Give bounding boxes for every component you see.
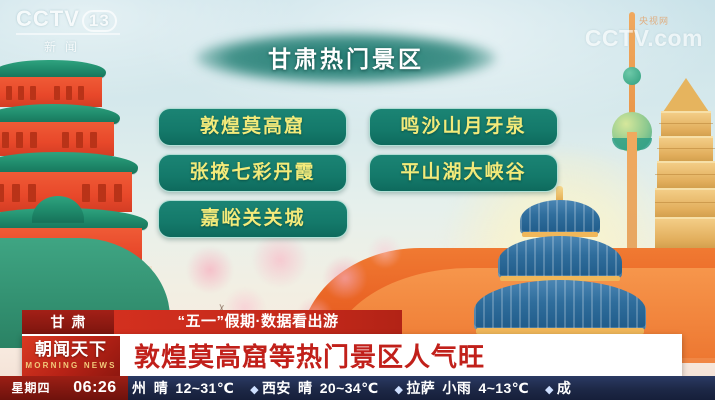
cctv-logo-subtitle: 新闻 bbox=[44, 38, 148, 55]
page-title: 甘肃热门景区 bbox=[196, 42, 496, 76]
province-label: 甘肃 bbox=[22, 310, 114, 334]
ticker-weekday: 星期四 bbox=[0, 376, 62, 400]
cctv-logo-underline bbox=[16, 33, 120, 35]
ticker-clock: 06:26 bbox=[62, 376, 128, 400]
scenic-spot-tag[interactable]: 平山湖大峡谷 bbox=[369, 154, 558, 192]
ticker-weather-item: ◆成 bbox=[545, 380, 571, 396]
program-name-english: MORNING NEWS bbox=[22, 361, 120, 370]
ticker-condition: 晴 bbox=[149, 380, 172, 396]
scenic-spot-tag[interactable]: 敦煌莫高窟 bbox=[158, 108, 347, 146]
lower-third-main-row: 朝闻天下 MORNING NEWS 敦煌莫高窟等热门景区人气旺 bbox=[22, 334, 682, 376]
lower-third-subtitle: “五一”假期·数据看出游 bbox=[114, 310, 402, 334]
cctv-wordmark: CCTV bbox=[16, 6, 80, 31]
ticker-city: 拉萨 bbox=[406, 380, 435, 396]
scenic-spot-row: 张掖七彩丹霞 平山湖大峡谷 bbox=[158, 154, 558, 192]
ticker-temperature: 4~13℃ bbox=[479, 380, 530, 396]
scenic-spot-tag[interactable]: 张掖七彩丹霞 bbox=[158, 154, 347, 192]
ticker-city: 州 bbox=[132, 380, 146, 396]
cctv-channel-number: 13 bbox=[82, 10, 117, 32]
bottom-ticker: 星期四 06:26 州 晴 12~31℃◆西安 晴 20~34℃◆拉萨 小雨 4… bbox=[0, 376, 715, 400]
scenic-spot-grid: 敦煌莫高窟 鸣沙山月牙泉 张掖七彩丹霞 平山湖大峡谷 嘉峪关关城 bbox=[158, 108, 558, 246]
scenic-spot-row: 敦煌莫高窟 鸣沙山月牙泉 bbox=[158, 108, 558, 146]
ticker-weather-list: 州 晴 12~31℃◆西安 晴 20~34℃◆拉萨 小雨 4~13℃◆成 bbox=[128, 376, 715, 400]
bullet-icon: ◆ bbox=[250, 384, 259, 396]
cctv-logo-text: CCTV13 bbox=[16, 8, 148, 32]
cctv-com-watermark: 央视网 CCTV.com bbox=[585, 14, 703, 49]
headline-text: 敦煌莫高窟等热门景区人气旺 bbox=[120, 336, 682, 378]
lower-third-top-row: 甘肃 “五一”假期·数据看出游 bbox=[22, 310, 402, 334]
scenic-spot-row: 嘉峪关关城 bbox=[158, 200, 558, 238]
ticker-city: 西安 bbox=[262, 380, 291, 396]
scenic-spot-tag[interactable]: 鸣沙山月牙泉 bbox=[369, 108, 558, 146]
ticker-city: 成 bbox=[557, 380, 571, 396]
scenic-spot-tag[interactable]: 嘉峪关关城 bbox=[158, 200, 348, 238]
ticker-temperature: 12~31℃ bbox=[175, 380, 234, 396]
bullet-icon: ◆ bbox=[545, 384, 554, 396]
broadcast-screenshot: CCTV13 新闻 央视网 CCTV.com 甘肃热门景区 敦煌莫高窟 鸣沙山月… bbox=[0, 0, 715, 400]
ticker-weather-item: ◆西安 晴 20~34℃ bbox=[250, 380, 378, 396]
bullet-icon: ◆ bbox=[394, 384, 403, 396]
program-name-chinese: 朝闻天下 bbox=[28, 340, 114, 359]
ticker-condition: 晴 bbox=[294, 380, 317, 396]
watermark-english-text: CCTV.com bbox=[585, 27, 703, 49]
ticker-condition: 小雨 bbox=[438, 380, 475, 396]
cctv13-channel-logo: CCTV13 新闻 bbox=[16, 8, 148, 52]
ticker-weather-item: 州 晴 12~31℃ bbox=[132, 380, 234, 396]
ticker-weather-item: ◆拉萨 小雨 4~13℃ bbox=[394, 380, 529, 396]
lower-third: 甘肃 “五一”假期·数据看出游 朝闻天下 MORNING NEWS 敦煌莫高窟等… bbox=[22, 310, 682, 376]
ticker-temperature: 20~34℃ bbox=[320, 380, 379, 396]
program-logo: 朝闻天下 MORNING NEWS bbox=[22, 336, 120, 378]
